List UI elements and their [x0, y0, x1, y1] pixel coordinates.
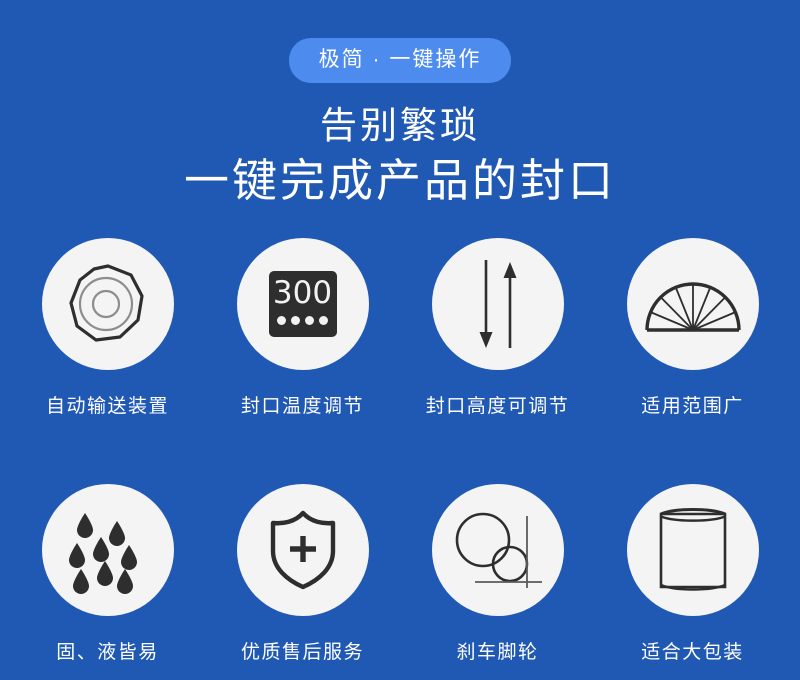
- temperature-display-icon: 300: [269, 271, 337, 337]
- indicator-dots: [277, 316, 328, 325]
- icon-circle: [432, 238, 564, 370]
- feature-item-brake-caster: 刹车脚轮: [400, 484, 595, 662]
- feature-label: 自动输送装置: [46, 397, 169, 416]
- feature-label: 封口温度调节: [241, 397, 364, 416]
- temperature-value: 300: [273, 274, 332, 313]
- icon-circle: [42, 484, 174, 616]
- feature-item-large-package: 适合大包装: [595, 484, 790, 662]
- caster-wheel-icon: [450, 506, 546, 594]
- feature-label: 固、液皆易: [56, 643, 159, 662]
- feature-label: 适合大包装: [641, 643, 744, 662]
- feature-row: 自动输送装置 300 封口温度调节: [0, 238, 800, 416]
- feature-item-solid-liquid: 固、液皆易: [10, 484, 205, 662]
- fan-semicircle-icon: [643, 273, 743, 335]
- page-subtitle: 一键完成产品的封口: [0, 154, 800, 208]
- feature-item-wide-range: 适用范围广: [595, 238, 790, 416]
- feature-label: 刹车脚轮: [456, 643, 538, 662]
- feature-row: 固、液皆易 优质售后服务: [0, 484, 800, 662]
- page-title: 告别繁琐: [0, 105, 800, 148]
- page-header: 极简 · 一键操作 告别繁琐 一键完成产品的封口: [0, 0, 800, 208]
- icon-circle: [627, 238, 759, 370]
- feature-label: 封口高度可调节: [426, 397, 570, 416]
- feature-item-seal-height: 封口高度可调节: [400, 238, 595, 416]
- feature-item-after-sales: 优质售后服务: [205, 484, 400, 662]
- conveyor-roller-icon: [62, 258, 154, 350]
- icon-circle: [237, 484, 369, 616]
- feature-label: 优质售后服务: [241, 643, 364, 662]
- icon-circle: [42, 238, 174, 370]
- feature-item-seal-temperature: 300 封口温度调节: [205, 238, 400, 416]
- tagline-badge: 极简 · 一键操作: [289, 38, 512, 83]
- feature-label: 适用范围广: [641, 397, 744, 416]
- package-bag-icon: [651, 505, 735, 595]
- feature-grid: 自动输送装置 300 封口温度调节: [0, 238, 800, 662]
- indicator-dot: [305, 316, 314, 325]
- icon-circle: [627, 484, 759, 616]
- feature-item-auto-conveyor: 自动输送装置: [10, 238, 205, 416]
- indicator-dot: [277, 316, 286, 325]
- indicator-dot: [319, 316, 328, 325]
- indicator-dot: [291, 316, 300, 325]
- shield-plus-icon: [263, 508, 343, 592]
- icon-circle: [432, 484, 564, 616]
- up-down-arrows-icon: [452, 254, 544, 354]
- water-droplets-icon: [65, 505, 151, 595]
- icon-circle: 300: [237, 238, 369, 370]
